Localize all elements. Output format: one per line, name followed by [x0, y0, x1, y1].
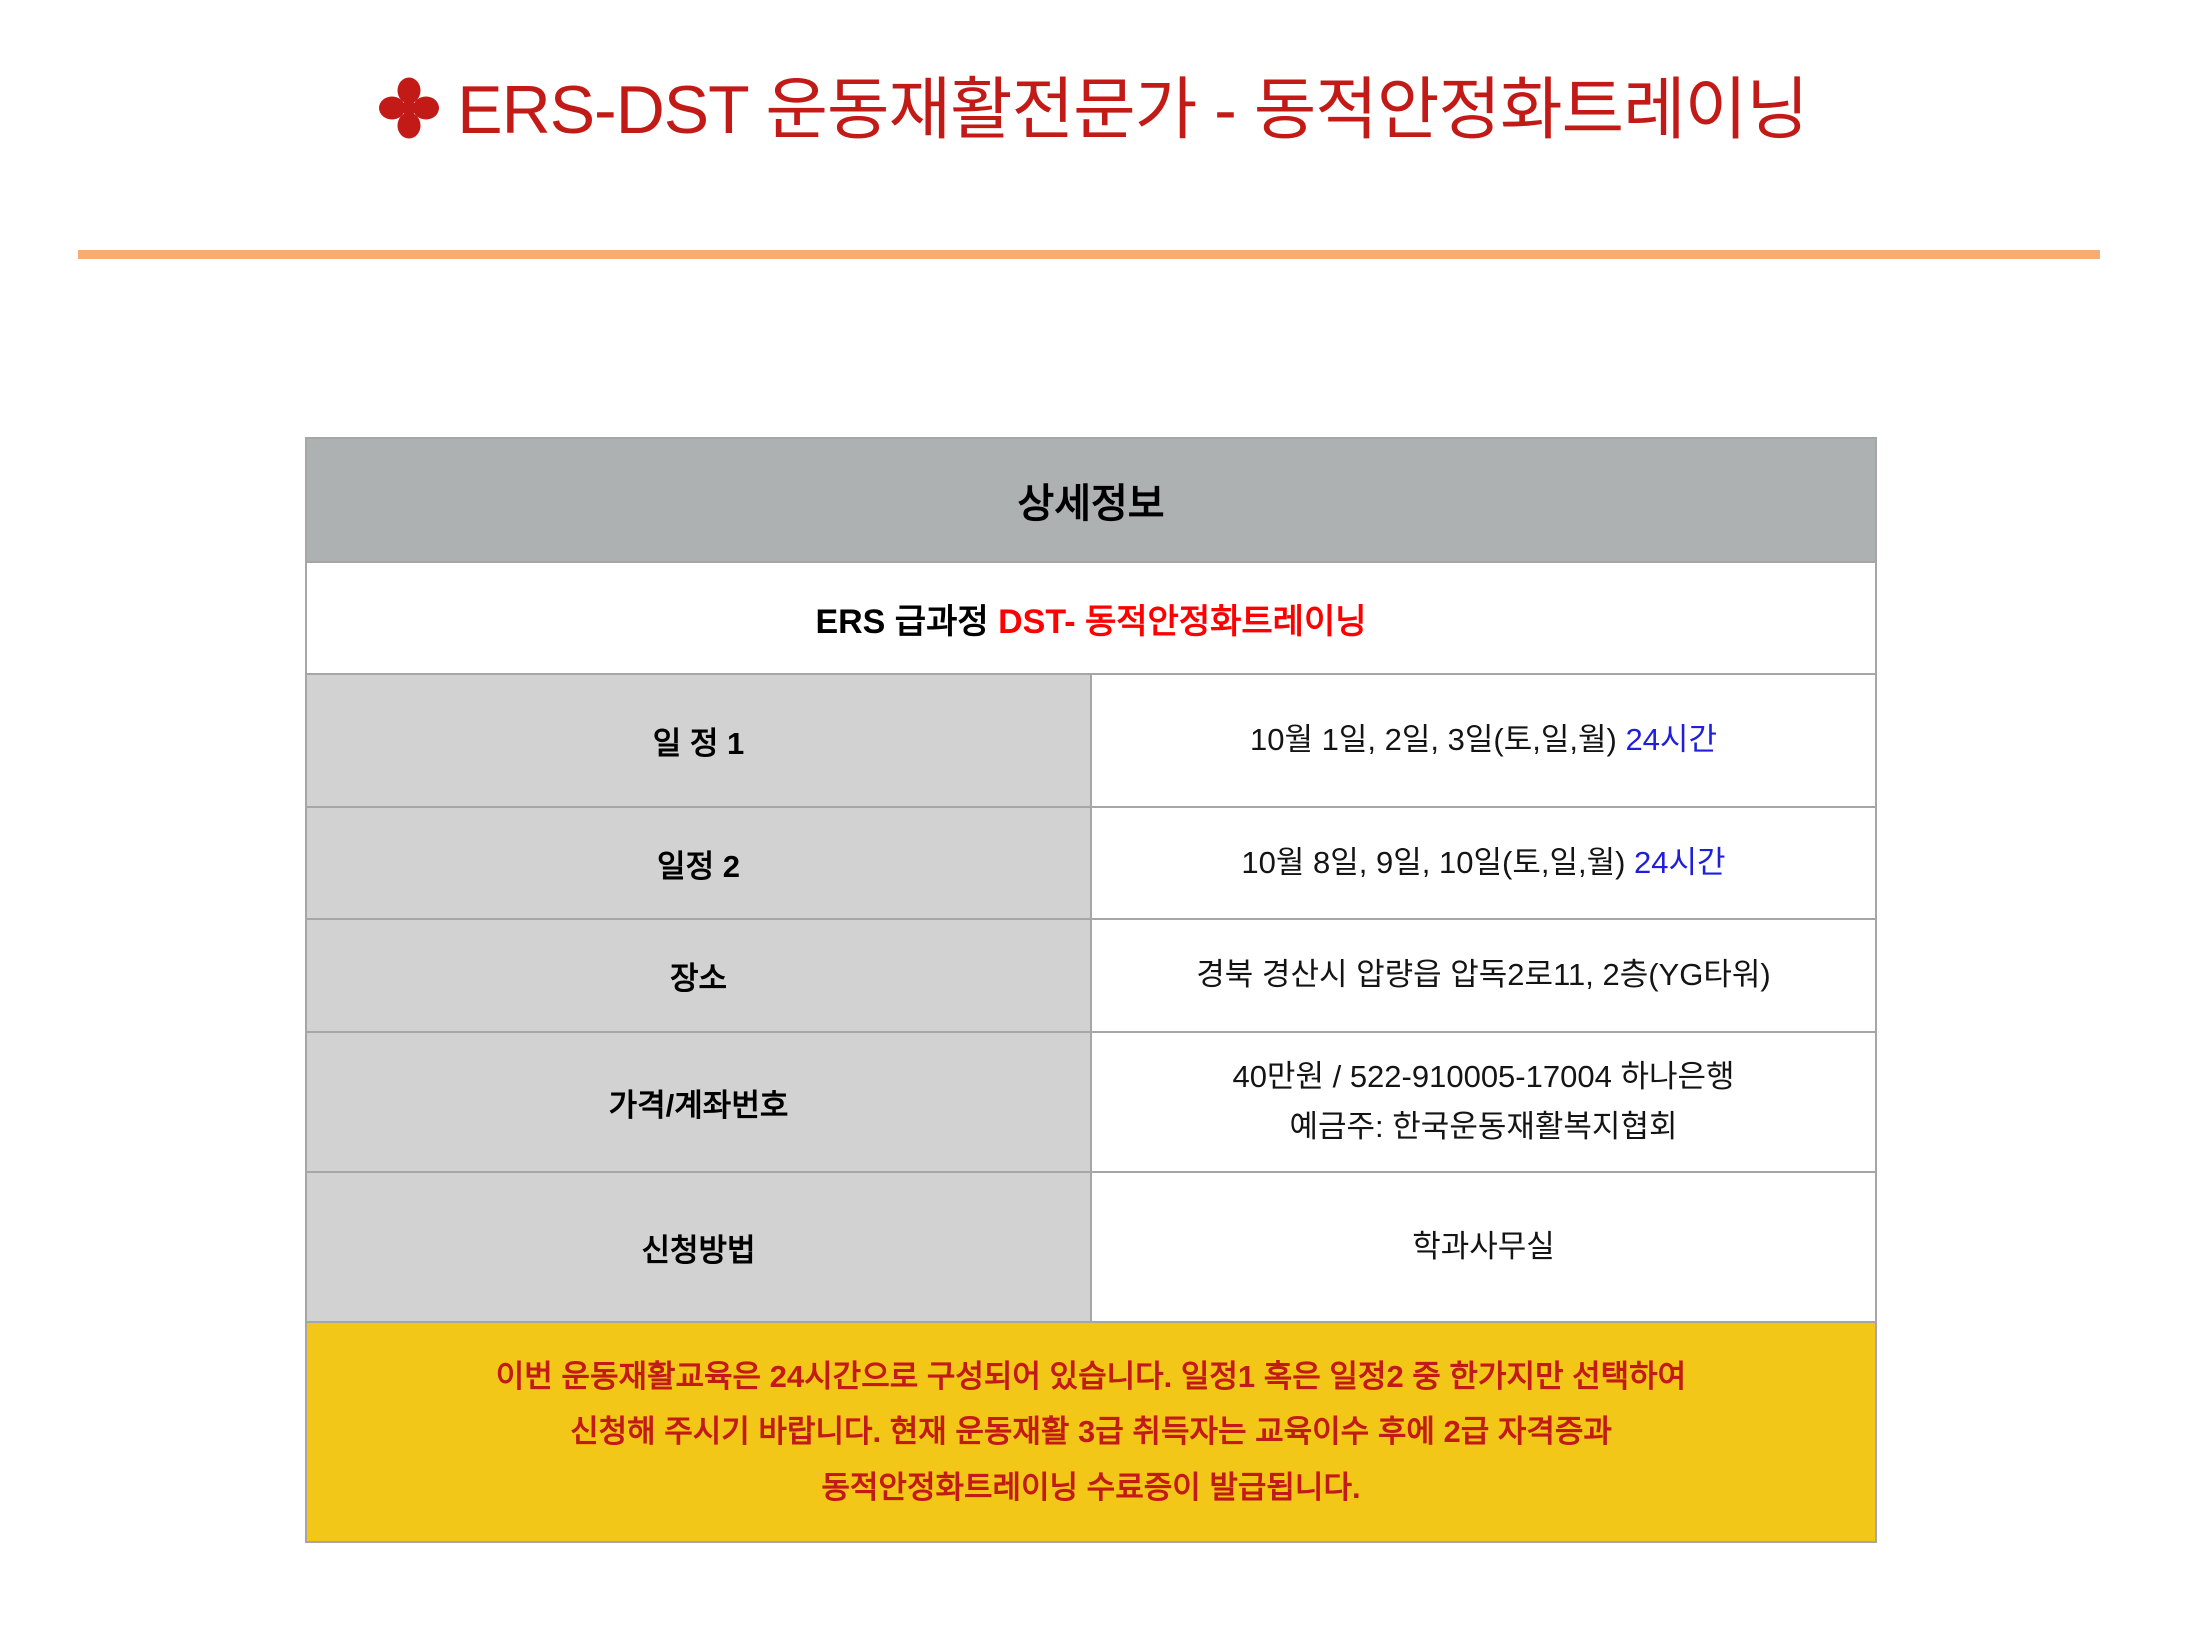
note-line-1: 이번 운동재활교육은 24시간으로 구성되어 있습니다. 일정1 혹은 일정2 …	[347, 1349, 1835, 1404]
row-value-schedule-1: 10월 1일, 2일, 3일(토,일,월) 24시간	[1091, 674, 1876, 807]
table-header-cell: 상세정보	[306, 438, 1876, 562]
page-title-text: ERS-DST 운동재활전문가 - 동적안정화트레이닝	[457, 72, 1808, 148]
title-divider-rule	[78, 250, 2100, 259]
note-line-2: 신청해 주시기 바랍니다. 현재 운동재활 3급 취득자는 교육이수 후에 2급…	[347, 1404, 1835, 1459]
schedule-1-hours: 24시간	[1625, 722, 1717, 757]
table-row: 신청방법 학과사무실	[306, 1172, 1876, 1322]
clover-flower-icon	[379, 77, 439, 139]
schedule-2-hours: 24시간	[1634, 845, 1726, 880]
course-title-prefix: ERS 급과정	[815, 603, 998, 641]
schedule-2-date: 10월 8일, 9일, 10일(토,일,월)	[1241, 845, 1634, 880]
table-row: 일정 2 10월 8일, 9일, 10일(토,일,월) 24시간	[306, 807, 1876, 919]
table-header-row: 상세정보	[306, 438, 1876, 562]
table-row: 일 정 1 10월 1일, 2일, 3일(토,일,월) 24시간	[306, 674, 1876, 807]
course-title-cell: ERS 급과정 DST- 동적안정화트레이닝	[306, 562, 1876, 674]
detail-info-table: 상세정보 ERS 급과정 DST- 동적안정화트레이닝 일 정 1 10월 1일…	[305, 437, 1877, 1543]
row-value-schedule-2: 10월 8일, 9일, 10일(토,일,월) 24시간	[1091, 807, 1876, 919]
row-label-price-account: 가격/계좌번호	[306, 1032, 1091, 1172]
note-line-3: 동적안정화트레이닝 수료증이 발급됩니다.	[347, 1460, 1835, 1515]
note-cell: 이번 운동재활교육은 24시간으로 구성되어 있습니다. 일정1 혹은 일정2 …	[306, 1322, 1876, 1542]
row-value-application-method: 학과사무실	[1091, 1172, 1876, 1322]
price-account-line-2: 예금주: 한국운동재활복지협회	[1108, 1102, 1859, 1152]
page-title: ERS-DST 운동재활전문가 - 동적안정화트레이닝	[0, 76, 2187, 144]
row-value-price-account: 40만원 / 522-910005-17004 하나은행 예금주: 한국운동재활…	[1091, 1032, 1876, 1172]
price-account-line-1: 40만원 / 522-910005-17004 하나은행	[1108, 1052, 1859, 1102]
row-label-location: 장소	[306, 919, 1091, 1032]
row-label-application-method: 신청방법	[306, 1172, 1091, 1322]
table-row: 장소 경북 경산시 압량읍 압독2로11, 2층(YG타워)	[306, 919, 1876, 1032]
note-row: 이번 운동재활교육은 24시간으로 구성되어 있습니다. 일정1 혹은 일정2 …	[306, 1322, 1876, 1542]
row-label-schedule-1: 일 정 1	[306, 674, 1091, 807]
row-label-schedule-2: 일정 2	[306, 807, 1091, 919]
schedule-1-date: 10월 1일, 2일, 3일(토,일,월)	[1250, 722, 1625, 757]
table-row: 가격/계좌번호 40만원 / 522-910005-17004 하나은행 예금주…	[306, 1032, 1876, 1172]
course-title-highlight: DST- 동적안정화트레이닝	[998, 603, 1366, 641]
row-value-location: 경북 경산시 압량읍 압독2로11, 2층(YG타워)	[1091, 919, 1876, 1032]
course-title-row: ERS 급과정 DST- 동적안정화트레이닝	[306, 562, 1876, 674]
